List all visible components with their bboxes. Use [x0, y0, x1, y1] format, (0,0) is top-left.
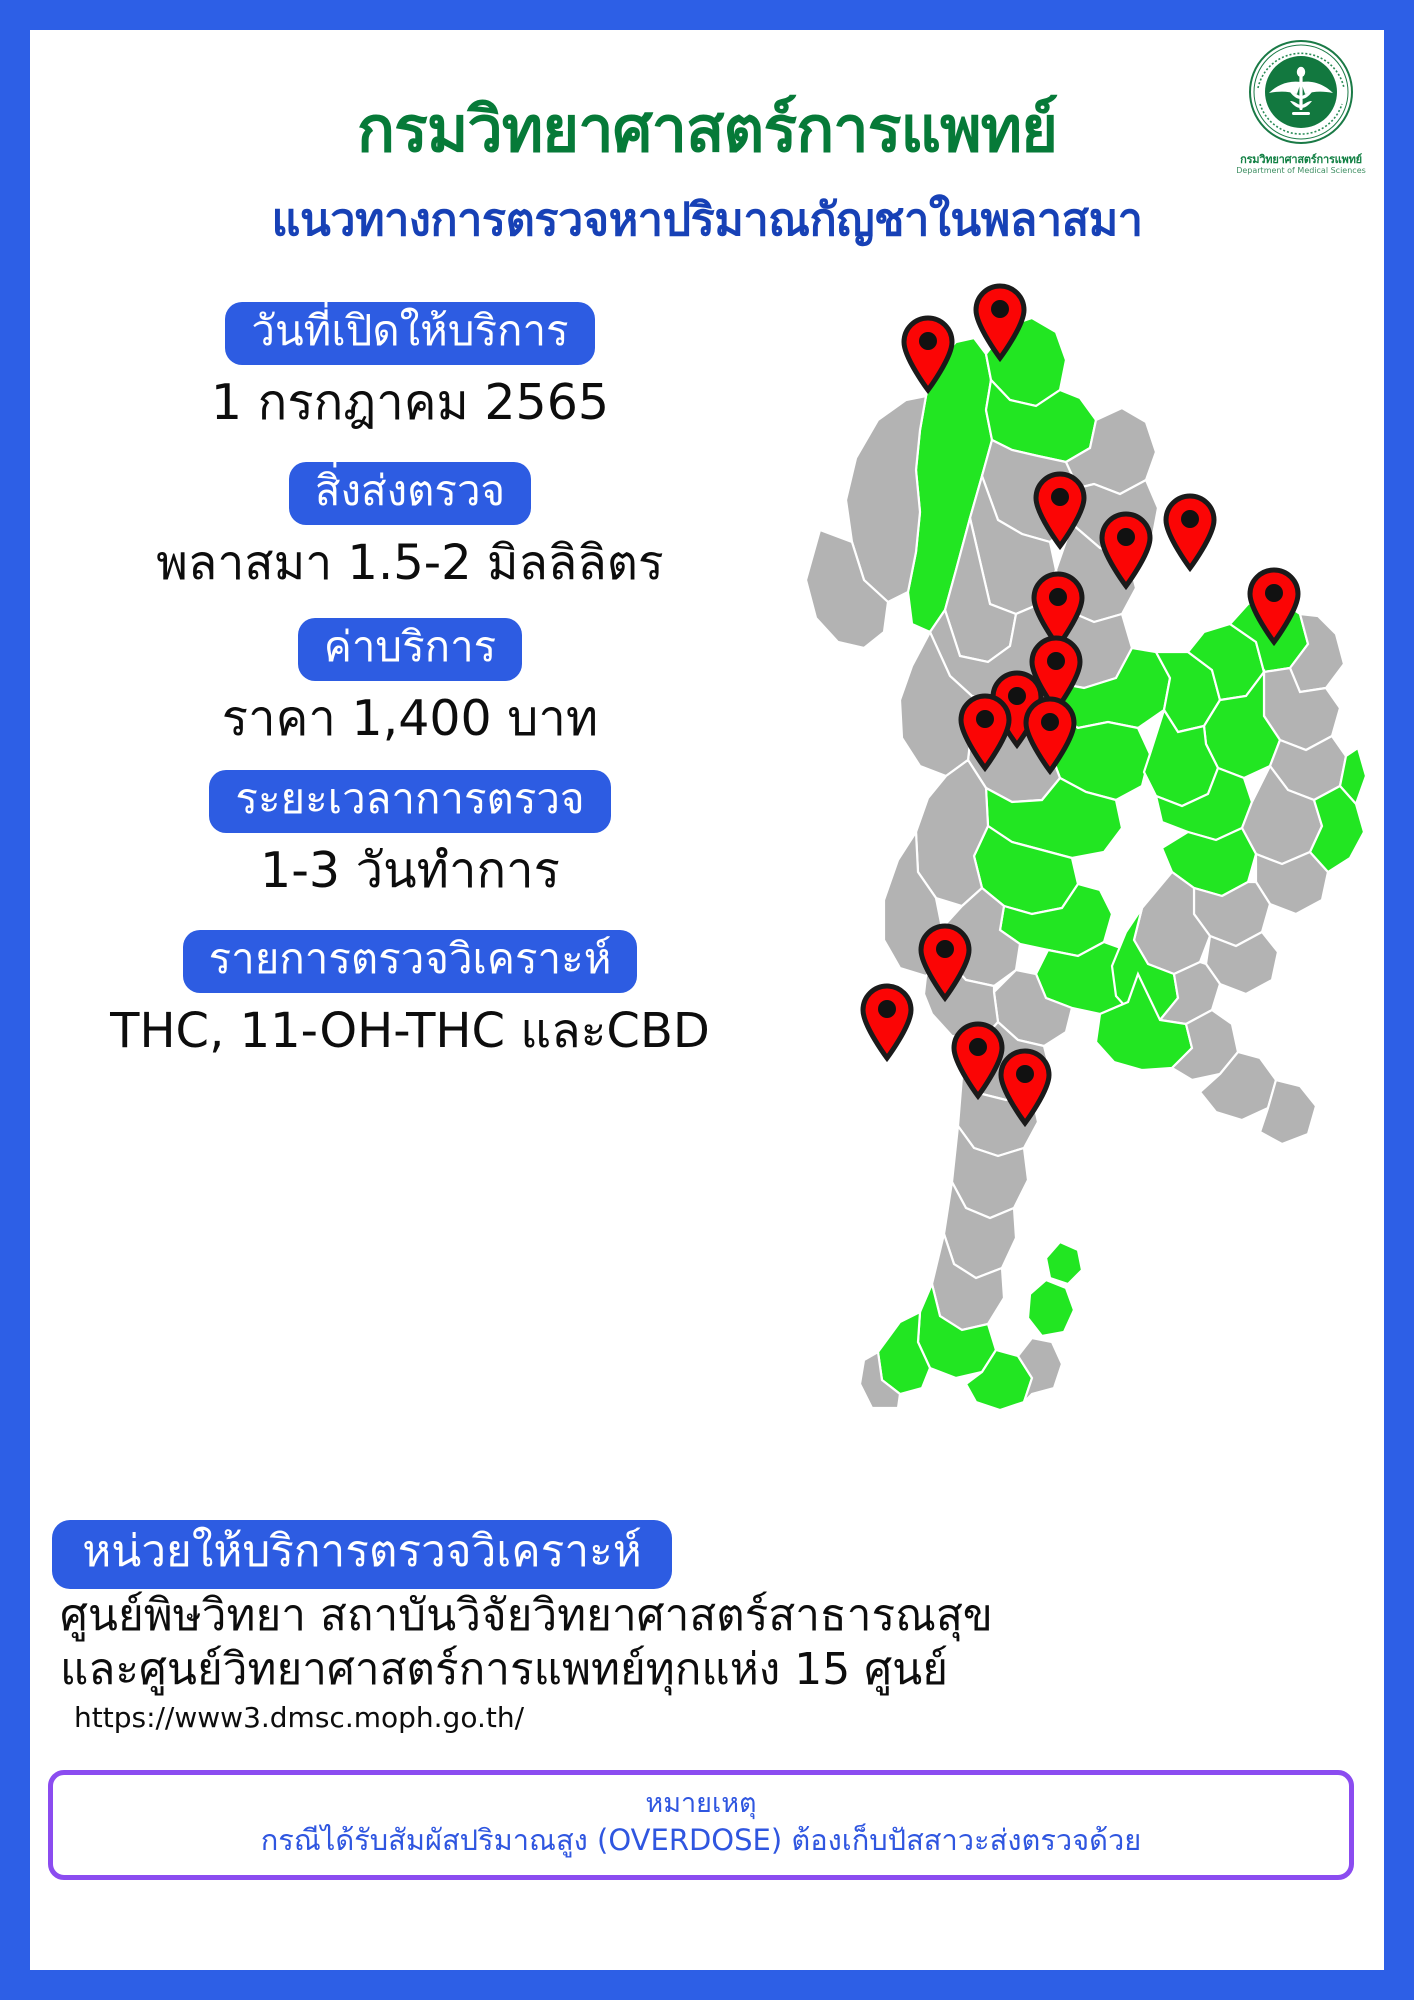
fact-value-turnaround-time: 1-3 วันทำการ — [30, 833, 790, 900]
fact-turnaround-time: ระยะเวลาการตรวจ 1-3 วันทำการ — [30, 770, 790, 900]
page-title: กรมวิทยาศาสตร์การแพทย์ — [30, 92, 1384, 168]
facts-column: วันที่เปิดให้บริการ 1 กรกฎาคม 2565 สิ่งส… — [30, 302, 790, 1060]
units-website-url[interactable]: https://www3.dmsc.moph.go.th/ — [30, 1697, 1384, 1737]
note-title: หมายเหตุ — [63, 1787, 1339, 1821]
map-pin[interactable] — [863, 986, 911, 1058]
infographic-poster: กรมวิทยาศาสตร์การแพทย์ Department of Med… — [0, 0, 1414, 2000]
fact-label-service-fee: ค่าบริการ — [298, 618, 522, 681]
poster-sheet: กรมวิทยาศาสตร์การแพทย์ Department of Med… — [30, 30, 1384, 1970]
fact-service-start-date: วันที่เปิดให้บริการ 1 กรกฎาคม 2565 — [30, 302, 790, 432]
fact-label-analytes: รายการตรวจวิเคราะห์ — [183, 930, 638, 993]
map-region-north — [806, 318, 1158, 662]
note-box: หมายเหตุ กรณีได้รับสัมผัสปริมาณสูง (OVER… — [48, 1770, 1354, 1880]
fact-value-service-start-date: 1 กรกฎาคม 2565 — [30, 365, 790, 432]
thailand-map-svg — [760, 280, 1380, 1410]
fact-label-turnaround-time: ระยะเวลาการตรวจ — [209, 770, 610, 833]
units-line-1: ศูนย์พิษวิทยา สถาบันวิจัยวิทยาศาสตร์สาธา… — [30, 1589, 1384, 1643]
fact-label-specimen: สิ่งส่งตรวจ — [289, 462, 531, 525]
thailand-service-centers-map — [760, 280, 1380, 1410]
map-pin[interactable] — [1166, 496, 1214, 568]
service-units-block: หน่วยให้บริการตรวจวิเคราะห์ ศูนย์พิษวิทย… — [30, 1520, 1384, 1737]
fact-value-analytes: THC, 11-OH-THC และCBD — [30, 993, 790, 1060]
units-line-2: และศูนย์วิทยาศาสตร์การแพทย์ทุกแห่ง 15 ศู… — [30, 1643, 1384, 1697]
fact-value-service-fee: ราคา 1,400 บาท — [30, 681, 790, 748]
page-subtitle: แนวทางการตรวจหาปริมาณกัญชาในพลาสมา — [30, 192, 1384, 248]
fact-analytes: รายการตรวจวิเคราะห์ THC, 11-OH-THC และCB… — [30, 930, 790, 1060]
fact-value-specimen: พลาสมา 1.5-2 มิลลิลิตร — [30, 525, 790, 592]
fact-service-fee: ค่าบริการ ราคา 1,400 บาท — [30, 618, 790, 748]
fact-specimen: สิ่งส่งตรวจ พลาสมา 1.5-2 มิลลิลิตร — [30, 462, 790, 592]
fact-label-service-start-date: วันที่เปิดให้บริการ — [225, 302, 594, 365]
units-label: หน่วยให้บริการตรวจวิเคราะห์ — [52, 1520, 671, 1589]
note-body: กรณีได้รับสัมผัสปริมาณสูง (OVERDOSE) ต้อ… — [63, 1821, 1339, 1859]
